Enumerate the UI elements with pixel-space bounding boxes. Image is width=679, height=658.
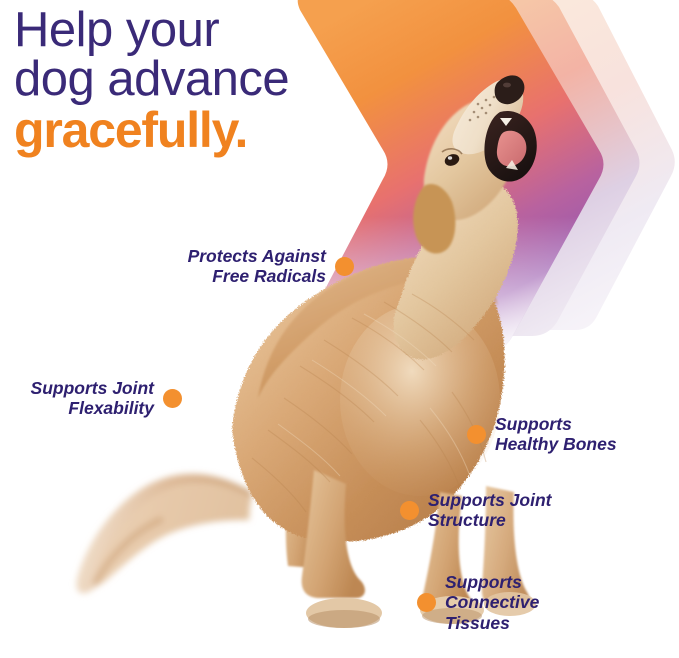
advertisement-banner: Help your dog advance gracefully. Protec… (0, 0, 679, 658)
headline: Help your dog advance gracefully. (14, 6, 444, 156)
dog-paw-1-pad (308, 610, 380, 628)
callout-joint-flexability-label: Supports Joint Flexability (4, 378, 154, 419)
callout-joint-flexability: Supports Joint Flexability (4, 378, 182, 419)
callout-healthy-bones-label: Supports Healthy Bones (495, 414, 617, 455)
dog-nose-highlight (503, 83, 511, 88)
dog-eye-highlight (448, 156, 452, 159)
callout-joint-structure: Supports Joint Structure (400, 490, 551, 531)
callout-dot-icon (400, 501, 419, 520)
callout-dot-icon (417, 593, 436, 612)
callout-connective-tissues: Supports Connective Tissues (417, 572, 539, 633)
headline-line-1: Help your (14, 6, 444, 55)
headline-line-3: gracefully. (14, 105, 444, 156)
callout-free-radicals-label: Protects Against Free Radicals (156, 246, 326, 287)
callout-healthy-bones: Supports Healthy Bones (467, 414, 617, 455)
dog-figure (76, 75, 536, 628)
callout-dot-icon (163, 389, 182, 408)
callout-connective-tissues-label: Supports Connective Tissues (445, 572, 539, 633)
callout-dot-icon (335, 257, 354, 276)
callout-dot-icon (467, 425, 486, 444)
headline-line-2: dog advance (14, 55, 444, 104)
callout-free-radicals: Protects Against Free Radicals (156, 246, 354, 287)
dog-tail (76, 474, 252, 593)
callout-joint-structure-label: Supports Joint Structure (428, 490, 551, 531)
